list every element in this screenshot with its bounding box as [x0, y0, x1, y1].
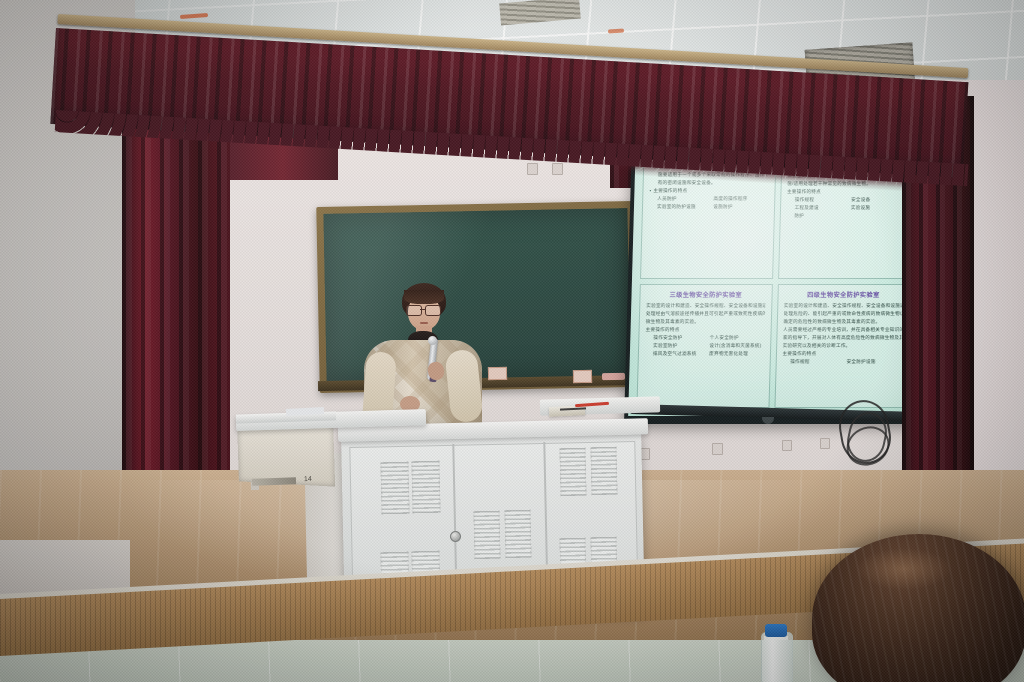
slide-columns: 操作安全防护 实验室防护 排风及空气过滤系统 个人安全防护 设计(含消毒和灭菌系…: [645, 334, 764, 358]
slide-col-item: 实验设施: [851, 204, 905, 212]
slide-line: 确定的危险性的致病微生物及其毒素的实验。: [783, 318, 902, 326]
presenter-mouth: [420, 322, 428, 324]
slide-col-item: 安全防护设施: [846, 358, 900, 366]
slide-col-item: 操作规程: [782, 358, 836, 366]
slide-line: 实验室的设计和建造、安全操作规程、安全设备和设施适用于: [646, 301, 765, 309]
power-outlet-icon[interactable]: [782, 440, 792, 451]
slide-line: 主要操作的特点: [649, 187, 768, 195]
cabinet-lock-icon[interactable]: [450, 531, 461, 542]
slide-col-item: 实验室的防护设施: [649, 203, 703, 211]
presenter-hair-fringe: [404, 290, 444, 304]
slide-col-item: 高度的操作程序: [713, 195, 767, 203]
slide-line: 处理经由气溶胶途径传播并且可引起严重或致死性疾病的致病: [646, 310, 765, 318]
water-bottle-cap-icon: [765, 624, 787, 637]
slide-col-item: 操作安全防护: [645, 334, 699, 342]
slide-col-item: 废弃物无害化处理: [709, 350, 763, 358]
slide-line: 实验室的设计和建造、安全操作规程、安全设备和设施适用于: [784, 301, 903, 309]
glasses-lens-right: [425, 305, 441, 316]
slide-title: 三级生物安全防护实验室: [646, 289, 765, 298]
wall-switch-icon[interactable]: [527, 163, 538, 175]
slide-col-item: 实验室防护: [645, 342, 699, 350]
slide-col-item: 排风及空气过滤系统: [645, 350, 699, 358]
cabinet-vent-icon: [474, 511, 501, 560]
slide-bottom-right: 四级生物安全防护实验室 实验室的设计和建造、安全操作规程、安全设备和设施适用于 …: [774, 283, 910, 407]
power-outlet-icon[interactable]: [712, 443, 723, 455]
pull-out-tray-number: 14: [304, 476, 312, 483]
glasses-lens-left: [406, 305, 422, 316]
slide-col-item: 个人安全防护: [710, 334, 764, 342]
slide-line: 处理危险的、能引起严重的或致命性疾病的致病微生物以及尚未: [783, 310, 902, 318]
wall-switch-icon[interactable]: [552, 163, 563, 175]
slide-line: 微生物及其毒素的实验。: [646, 318, 765, 326]
glasses-icon: [406, 305, 442, 314]
eraser-icon: [602, 373, 625, 380]
slide-col-item: 设计(含消毒和灭菌系统): [709, 342, 763, 350]
slide-col-item: 防护: [786, 212, 840, 220]
cabinet-vent-icon: [505, 510, 532, 559]
slide-bottom-left: 三级生物安全防护实验室 实验室的设计和建造、安全操作规程、安全设备和设施适用于 …: [636, 283, 772, 407]
slide-line: 主要操作的特点: [645, 326, 764, 334]
slide-line: 人员需要经过严格的专业培训，并在具备相关专业知识的科学: [783, 326, 902, 334]
slide-line: 主要操作的特点: [782, 350, 901, 358]
lecture-hall-photo: 实验室的设计和建造、安全操作规程、安全设备和设 施要适用于一个或多个采取常规的操…: [0, 0, 1024, 682]
slide-line: 家的指导下，开展对人体有高度危险性的致病微生物及其毒素的: [783, 334, 902, 342]
slide-columns: 人员防护 实验室的防护设施 高度的操作程序 设施防护: [649, 195, 768, 211]
slide-col-item: 工程及建设: [786, 204, 840, 212]
cabinet-vent-icon: [591, 447, 618, 496]
slide-columns: 操作规程 安全防护设施: [782, 358, 901, 366]
chalk-box-icon: [488, 367, 507, 380]
audience-member-hair-highlight: [856, 548, 952, 590]
cabinet-vent-icon: [380, 462, 409, 515]
cabinet-vent-icon: [411, 461, 440, 514]
slide-line: 实验研究以及相关的诊断工作。: [783, 342, 902, 350]
slide-col-item: 人员防护: [649, 195, 703, 203]
slide-columns: 操作规程 工程及建设 防护 安全设备 实验设施: [786, 196, 905, 220]
slide-col-item: 操作规程: [787, 196, 841, 204]
chalk-box-icon: [573, 370, 592, 383]
slide-title: 四级生物安全防护实验室: [784, 289, 903, 298]
cabinet-vent-icon: [560, 448, 587, 497]
slide-col-item: 安全设备: [851, 196, 905, 204]
slide-col-item: 设施防护: [713, 203, 767, 211]
power-outlet-icon[interactable]: [820, 438, 830, 449]
